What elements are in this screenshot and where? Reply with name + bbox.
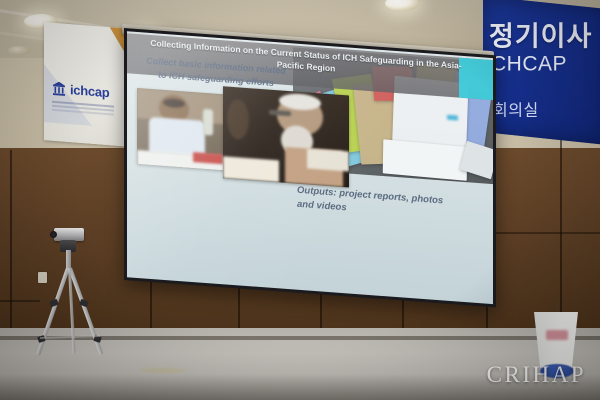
presentation-room-photo: 정기이사 CHCAP 회의실 ichcap: [0, 0, 600, 400]
camera-lens-icon: [50, 231, 57, 238]
crihap-watermark: CRIHAP: [487, 362, 586, 388]
camera-tripod: [28, 228, 112, 356]
foreground-objects: [223, 156, 279, 182]
banner-room-label: 회의실: [493, 97, 539, 121]
doc-logo-mark: [447, 115, 458, 121]
dark-background: [227, 99, 249, 141]
red-object: [193, 152, 223, 164]
tripod-leg: [36, 267, 70, 355]
white-cone-object: [534, 312, 578, 368]
cone-printed-mark: [546, 330, 568, 340]
doc-white-lower: [383, 139, 468, 181]
tripod-leg-lock: [49, 299, 59, 307]
tripod-spreader: [40, 335, 100, 339]
slide-outputs-text: Outputs: project reports, photos and vid…: [297, 184, 457, 224]
photo-man-writing: [137, 88, 229, 171]
projection-screen: Collecting Information on the Current St…: [124, 28, 496, 307]
bottle-shape: [203, 109, 213, 136]
tripod-leg-lock: [79, 299, 89, 307]
banner-korean-title: 정기이사: [489, 15, 592, 54]
banner-english-title: CHCAP: [491, 53, 567, 77]
temple-building-icon: [52, 81, 66, 97]
wood-seam: [486, 232, 600, 234]
floor-scuff: [140, 368, 186, 373]
wall-banner: 정기이사 CHCAP 회의실: [483, 0, 600, 145]
wood-seam: [10, 150, 12, 346]
poster-wordmark: ichcap: [70, 82, 109, 100]
glasses-shape: [269, 110, 291, 117]
projected-slide: Collecting Information on the Current St…: [127, 31, 493, 304]
shawl-shape: [307, 148, 349, 171]
photo-elderly-man: [223, 86, 349, 187]
smoke-detector-icon: [8, 46, 30, 55]
